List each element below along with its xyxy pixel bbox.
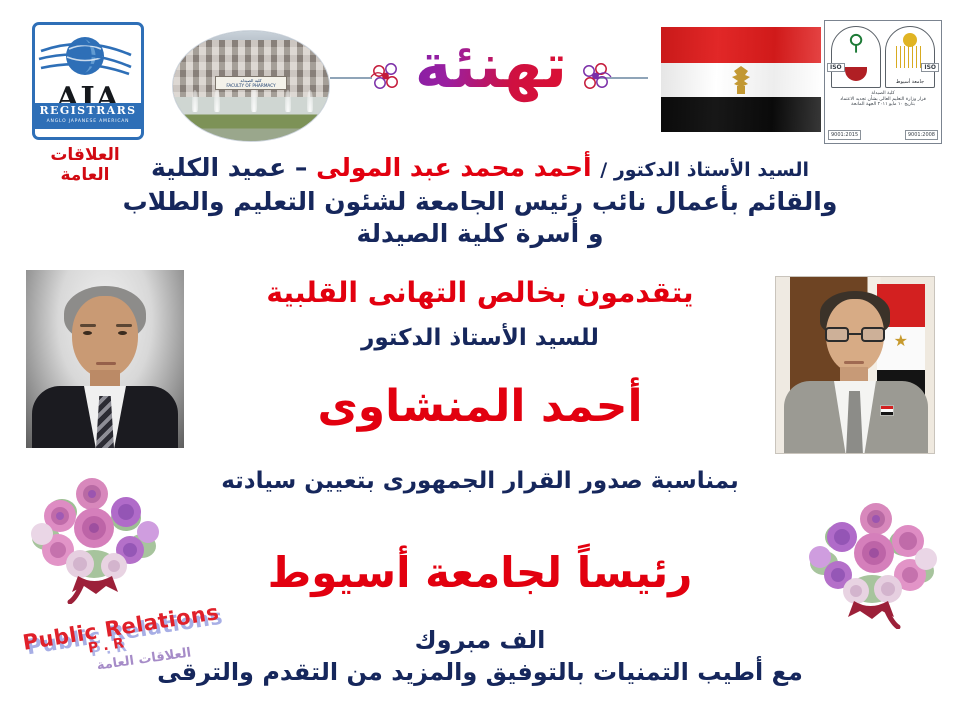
congratulation-title: تهنئة [396, 12, 586, 124]
sun-rays-icon [896, 46, 924, 68]
assiut-university-iso-logo: جامعة أسيوط ⚲ ISO ISO كلية الصيدلة قرار … [824, 20, 942, 144]
dean-line: السيد الأستاذ الدكتور / أحمد محمد عبد ال… [0, 152, 960, 186]
eagle-of-saladin-icon: ★ [894, 333, 908, 349]
iso-cert-left: 9001:2015 [828, 130, 861, 140]
faculty-family-line: و أسرة كلية الصيدلة [0, 218, 960, 250]
dean-name: أحمد محمد عبد المولى [316, 153, 591, 182]
iso-pane-sun: جامعة أسيوط [885, 26, 935, 88]
aja-registrars-text: REGISTRARS [35, 103, 141, 118]
glasses-lens-left [825, 327, 849, 342]
portrait-eyebrow [80, 324, 96, 327]
photo-fountain [285, 90, 291, 112]
iso-cert-right: 9001:2008 [905, 130, 938, 140]
faculty-sign-english: FACULTY OF PHARMACY [226, 83, 275, 88]
iso-pane-pharmacy: ⚲ [831, 26, 881, 88]
bowl-of-hygieia-icon: ⚲ [848, 32, 864, 56]
portrait-eye [118, 331, 127, 335]
flag-lapel-pin-icon [880, 405, 894, 416]
aja-subtitle-text: ANGLO JAPANESE AMERICAN [35, 118, 141, 125]
portrait-eye [83, 331, 92, 335]
flower-bouquet-right [800, 497, 946, 629]
portrait-mouth [96, 362, 116, 365]
iso-badge-right: ISO [921, 63, 939, 72]
iso-badge-left: ISO [827, 63, 845, 72]
egypt-flag-image [661, 27, 821, 132]
poster-header: AJA REGISTRARS ANGLO JAPANESE AMERICAN ا… [0, 0, 960, 152]
congratulation-title-text: تهنئة [396, 26, 586, 106]
portrait-eyebrow [116, 324, 132, 327]
eyeglasses-icon [825, 327, 885, 342]
portrait-face [72, 296, 138, 378]
portrait-mouth [844, 361, 864, 364]
iso-logo-panes: جامعة أسيوط ⚲ [831, 26, 935, 88]
glasses-lens-right [861, 327, 885, 342]
aja-registrars-bar: REGISTRARS ANGLO JAPANESE AMERICAN [35, 103, 141, 129]
flower-bouquet-left [22, 472, 168, 604]
iso-university-name: جامعة أسيوط [886, 79, 934, 85]
photo-fountain [307, 90, 313, 112]
photo-fountain [214, 90, 220, 112]
pharmacy-bowl-icon [845, 67, 867, 81]
faculty-sign: كلية الصيدلة FACULTY OF PHARMACY [215, 76, 287, 90]
portrait-dean [26, 270, 184, 448]
iso-caption-block: كلية الصيدلة قرار وزارة التعليم العالى ب… [833, 91, 933, 108]
vice-president-line: والقائم بأعمال نائب رئيس الجامعة لشئون ا… [0, 186, 960, 218]
aja-logo-card: AJA REGISTRARS ANGLO JAPANESE AMERICAN [32, 22, 144, 140]
public-relations-logo: Public Relations P . R العلاقات العامة [36, 608, 226, 690]
dean-role: – عميد الكلية [151, 153, 307, 182]
photo-fountain [192, 90, 198, 112]
header-rule-left [330, 77, 372, 79]
congratulation-poster: AJA REGISTRARS ANGLO JAPANESE AMERICAN ا… [0, 0, 960, 720]
globe-icon [35, 31, 141, 85]
dean-prefix: السيد الأستاذ الدكتور / [600, 159, 809, 181]
portrait-university-president: ★ [775, 276, 935, 454]
sun-icon [903, 33, 917, 47]
flag-wave-shading [661, 27, 821, 132]
faculty-building-photo: كلية الصيدلة FACULTY OF PHARMACY [172, 30, 330, 142]
glasses-bridge [849, 333, 861, 335]
iso-date-text: بتاريخ ١٠ مايو ٢٠١١ الجهة المانحة [833, 102, 933, 108]
